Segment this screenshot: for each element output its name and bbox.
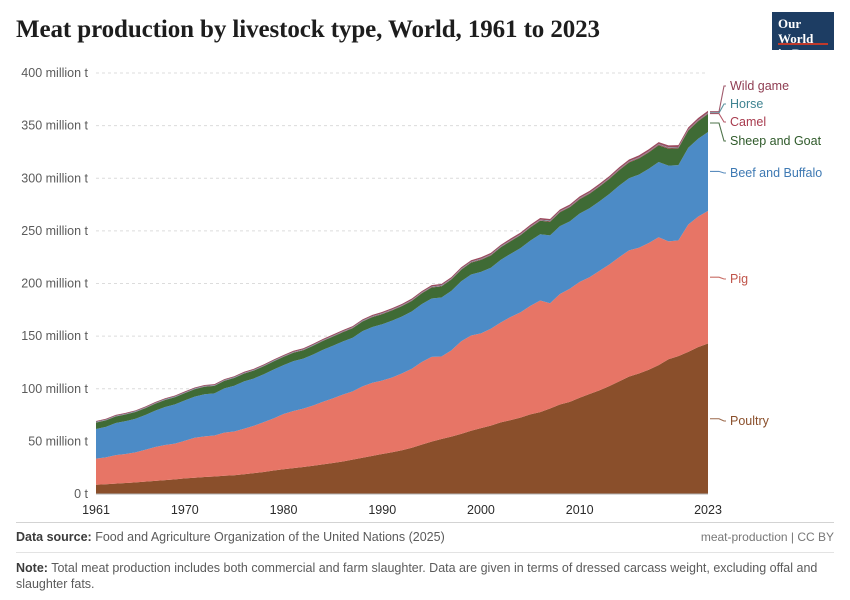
legend-connector xyxy=(710,86,726,112)
owid-logo: Our World in Data xyxy=(772,12,834,50)
note-value: Total meat production includes both comm… xyxy=(16,561,817,591)
chart-page: Meat production by livestock type, World… xyxy=(0,0,850,600)
stacked-area-chart: 0 t50 million t100 million t150 million … xyxy=(0,60,850,515)
legend-connector xyxy=(710,171,726,173)
legend-connector xyxy=(710,419,726,421)
page-title: Meat production by livestock type, World… xyxy=(16,16,600,44)
legend-connector xyxy=(710,114,726,122)
legend-label-sheep-and-goat[interactable]: Sheep and Goat xyxy=(730,134,822,148)
y-axis-tick-label: 150 million t xyxy=(21,329,88,343)
legend-label-poultry[interactable]: Poultry xyxy=(730,414,770,428)
logo-line-1: Our World xyxy=(778,16,813,46)
legend-connector xyxy=(710,277,726,279)
chart-footer: Data source: Food and Agriculture Organi… xyxy=(16,522,834,592)
source-value: Food and Agriculture Organization of the… xyxy=(95,530,445,544)
y-axis-tick-label: 50 million t xyxy=(28,434,88,448)
note-divider xyxy=(16,552,834,553)
footer-divider xyxy=(16,522,834,523)
y-axis-tick-label: 300 million t xyxy=(21,171,88,185)
y-axis-tick-label: 200 million t xyxy=(21,277,88,291)
source-row: Data source: Food and Agriculture Organi… xyxy=(16,530,834,544)
note-row: Note: Total meat production includes bot… xyxy=(16,560,834,592)
x-axis-tick-label: 1980 xyxy=(270,503,298,515)
legend-label-beef-and-buffalo[interactable]: Beef and Buffalo xyxy=(730,166,822,180)
x-axis-tick-label: 2000 xyxy=(467,503,495,515)
source-label: Data source: xyxy=(16,530,92,544)
logo-rule xyxy=(778,43,828,45)
y-axis-tick-label: 350 million t xyxy=(21,119,88,133)
legend-label-camel[interactable]: Camel xyxy=(730,115,766,129)
logo-line-2: in Data xyxy=(778,46,828,61)
x-axis-tick-label: 1990 xyxy=(368,503,396,515)
x-axis-tick-label: 2010 xyxy=(566,503,594,515)
x-axis-tick-label: 2023 xyxy=(694,503,722,515)
source-text-wrap: Data source: Food and Agriculture Organi… xyxy=(16,530,445,544)
y-axis-tick-label: 250 million t xyxy=(21,224,88,238)
legend-label-horse[interactable]: Horse xyxy=(730,97,763,111)
legend-connector xyxy=(710,123,726,141)
chart-area: 0 t50 million t100 million t150 million … xyxy=(0,60,850,515)
legend-label-wild-game[interactable]: Wild game xyxy=(730,79,789,93)
y-axis-tick-label: 0 t xyxy=(74,487,88,501)
legend-label-pig[interactable]: Pig xyxy=(730,272,748,286)
note-label: Note: xyxy=(16,561,48,575)
y-axis-tick-label: 400 million t xyxy=(21,66,88,80)
x-axis-tick-label: 1961 xyxy=(82,503,110,515)
x-axis-tick-label: 1970 xyxy=(171,503,199,515)
y-axis-tick-label: 100 million t xyxy=(21,382,88,396)
attribution[interactable]: meat-production | CC BY xyxy=(701,530,834,544)
